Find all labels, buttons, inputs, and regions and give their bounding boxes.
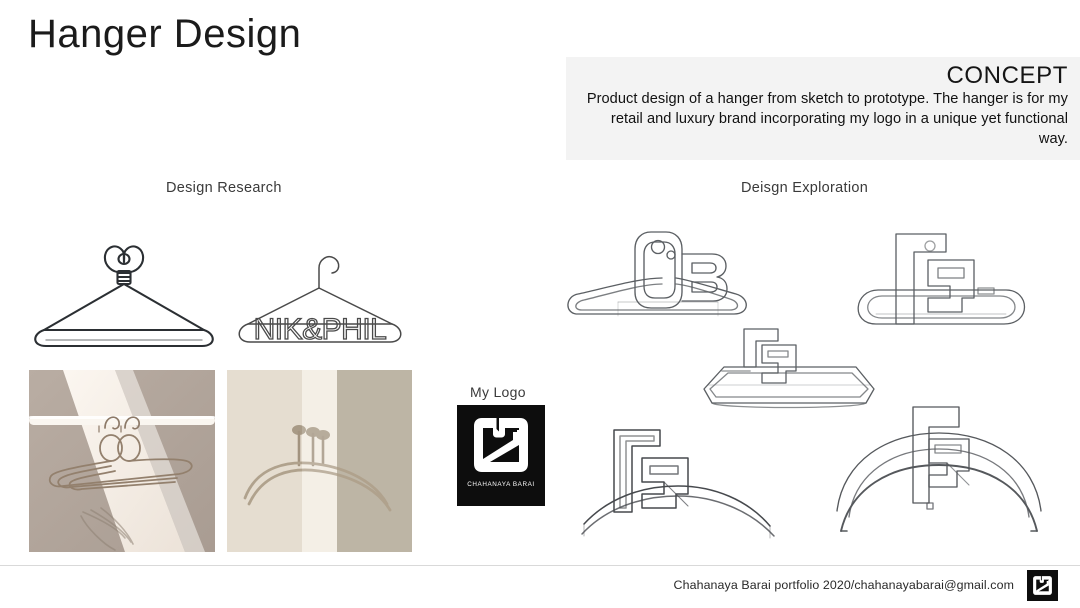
chahanaya-barai-logo-mark [468, 412, 534, 478]
footer-credit: Chahanaya Barai portfolio 2020/chahanaya… [674, 578, 1014, 592]
footer-divider [0, 565, 1080, 566]
angular-cb-pill-base-sketch [842, 228, 1047, 340]
section-heading-design-research: Design Research [166, 180, 282, 196]
logo-caption: CHAHANAYA BARAI [467, 481, 535, 488]
section-heading-design-exploration: Deisgn Exploration [741, 180, 868, 196]
concept-box: CONCEPT Product design of a hanger from … [566, 57, 1080, 160]
concept-body: Product design of a hanger from sketch t… [580, 90, 1068, 149]
nikphil-lettering-hanger: NIK&PHIL [232, 238, 422, 350]
heart-hook-wire-hanger [26, 232, 222, 350]
section-heading-my-logo: My Logo [470, 384, 526, 400]
portfolio-slide: Hanger Design CONCEPT Product design of … [0, 0, 1080, 608]
logo-block: CHAHANAYA BARAI [457, 405, 545, 506]
footer-logo [1027, 570, 1058, 601]
page-title: Hanger Design [28, 11, 301, 57]
arc-hangers-photo [227, 370, 412, 552]
bold-cb-arched-base-sketch [578, 420, 778, 540]
gold-wire-hangers-photo [29, 370, 215, 552]
chahanaya-barai-logo-mark-small [1031, 574, 1054, 597]
rounded-cb-hanger-sketch [558, 214, 788, 339]
cb-curved-arc-hanger-sketch [833, 405, 1048, 535]
hanger-lettering: NIK&PHIL [254, 313, 387, 346]
concept-heading: CONCEPT [580, 63, 1068, 88]
